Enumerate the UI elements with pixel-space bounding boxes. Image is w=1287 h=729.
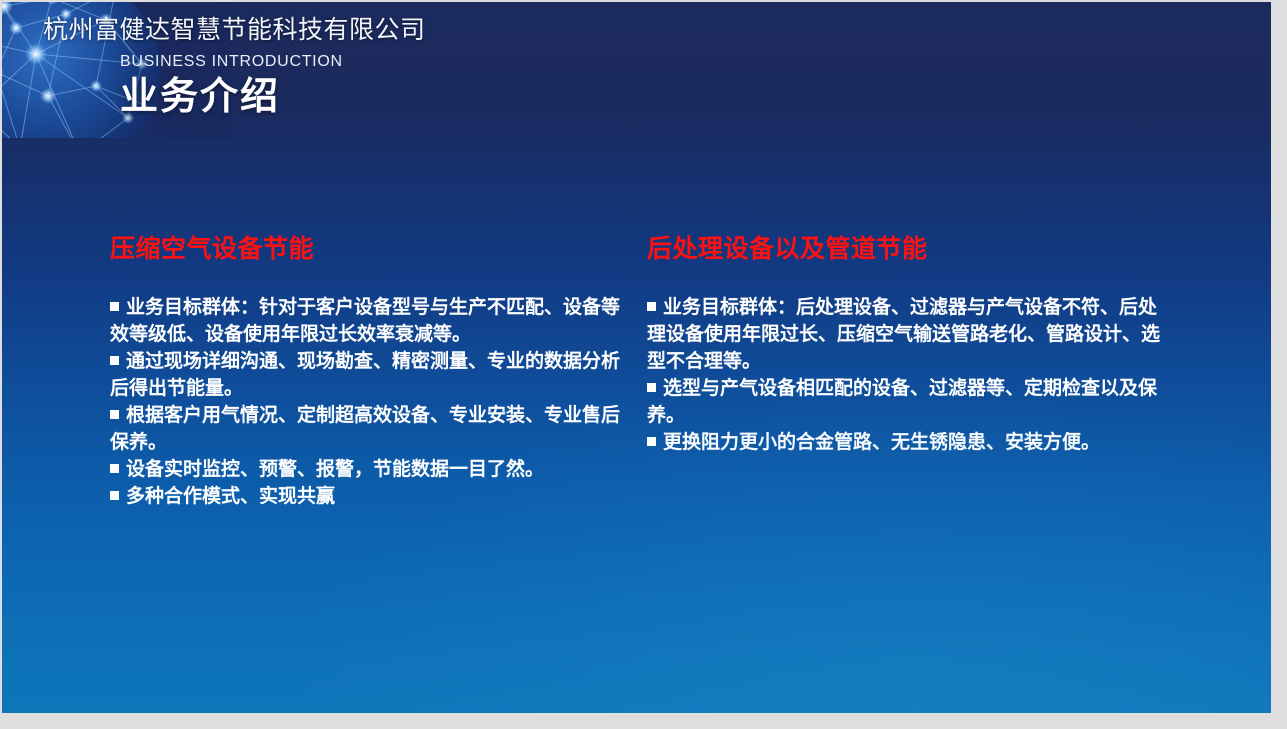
square-bullet-icon xyxy=(647,437,656,446)
company-name: 杭州富健达智慧节能科技有限公司 xyxy=(43,15,426,45)
list-item: 多种合作模式、实现共赢 xyxy=(110,483,625,510)
list-item-text: 更换阻力更小的合金管路、无生锈隐患、安装方便。 xyxy=(663,432,1100,453)
square-bullet-icon xyxy=(647,302,656,311)
list-item: 业务目标群体：后处理设备、过滤器与产气设备不符、后处理设备使用年限过长、压缩空气… xyxy=(647,294,1162,375)
slide-canvas: 杭州富健达智慧节能科技有限公司 BUSINESS INTRODUCTION 业务… xyxy=(2,2,1271,713)
list-item-text: 业务目标群体：后处理设备、过滤器与产气设备不符、后处理设备使用年限过长、压缩空气… xyxy=(647,297,1160,372)
page-title: 业务介绍 xyxy=(120,74,280,120)
square-bullet-icon xyxy=(110,491,119,500)
list-item-text: 设备实时监控、预警、报警，节能数据一目了然。 xyxy=(126,459,544,480)
bullet-list: 业务目标群体：后处理设备、过滤器与产气设备不符、后处理设备使用年限过长、压缩空气… xyxy=(647,294,1162,456)
content-column-left: 压缩空气设备节能 业务目标群体：针对于客户设备型号与生产不匹配、设备等效等级低、… xyxy=(110,234,625,510)
list-item-text: 多种合作模式、实现共赢 xyxy=(126,486,335,507)
square-bullet-icon xyxy=(110,410,119,419)
list-item-text: 根据客户用气情况、定制超高效设备、专业安装、专业售后保养。 xyxy=(110,405,620,453)
square-bullet-icon xyxy=(110,302,119,311)
list-item: 更换阻力更小的合金管路、无生锈隐患、安装方便。 xyxy=(647,429,1162,456)
list-item-text: 业务目标群体：针对于客户设备型号与生产不匹配、设备等效等级低、设备使用年限过长效… xyxy=(110,297,620,345)
list-item: 选型与产气设备相匹配的设备、过滤器等、定期检查以及保养。 xyxy=(647,375,1162,429)
list-item: 通过现场详细沟通、现场勘查、精密测量、专业的数据分析后得出节能量。 xyxy=(110,348,625,402)
list-item: 业务目标群体：针对于客户设备型号与生产不匹配、设备等效等级低、设备使用年限过长效… xyxy=(110,294,625,348)
slide-frame: 杭州富健达智慧节能科技有限公司 BUSINESS INTRODUCTION 业务… xyxy=(0,0,1287,729)
square-bullet-icon xyxy=(110,356,119,365)
list-item: 根据客户用气情况、定制超高效设备、专业安装、专业售后保养。 xyxy=(110,402,625,456)
section-eyebrow: BUSINESS INTRODUCTION xyxy=(120,52,343,72)
content-column-right: 后处理设备以及管道节能 业务目标群体：后处理设备、过滤器与产气设备不符、后处理设… xyxy=(647,234,1162,456)
list-item: 设备实时监控、预警、报警，节能数据一目了然。 xyxy=(110,456,625,483)
column-heading: 压缩空气设备节能 xyxy=(110,234,625,264)
column-heading: 后处理设备以及管道节能 xyxy=(647,234,1162,264)
list-item-text: 选型与产气设备相匹配的设备、过滤器等、定期检查以及保养。 xyxy=(647,378,1157,426)
bullet-list: 业务目标群体：针对于客户设备型号与生产不匹配、设备等效等级低、设备使用年限过长效… xyxy=(110,294,625,510)
square-bullet-icon xyxy=(110,464,119,473)
square-bullet-icon xyxy=(647,383,656,392)
list-item-text: 通过现场详细沟通、现场勘查、精密测量、专业的数据分析后得出节能量。 xyxy=(110,351,620,399)
